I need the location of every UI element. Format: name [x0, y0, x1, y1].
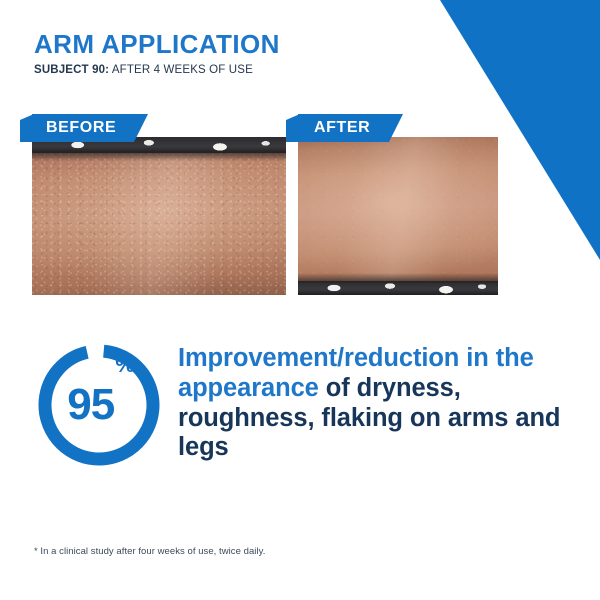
gauge-unit: % [115, 354, 135, 376]
before-ribbon-label: BEFORE [32, 114, 148, 142]
after-ribbon-nib [286, 114, 300, 142]
infographic-page: ARM APPLICATION SUBJECT 90: AFTER 4 WEEK… [0, 0, 600, 600]
after-ribbon-label: AFTER [298, 114, 403, 142]
after-fabric-shadow [298, 273, 498, 283]
before-fabric-shadow [32, 151, 286, 161]
footnote: * In a clinical study after four weeks o… [34, 546, 265, 557]
page-subtitle: SUBJECT 90: AFTER 4 WEEKS OF USE [34, 65, 454, 77]
after-photo-panel [298, 137, 498, 295]
after-fabric-strip [298, 281, 498, 295]
stat-block: 95% Improvement/reduction in the appeara… [34, 340, 566, 470]
percent-gauge: 95% [34, 340, 164, 470]
stat-headline: Improvement/reduction in the appearance … [178, 344, 566, 463]
subject-label: SUBJECT 90: [34, 64, 109, 76]
page-title: ARM APPLICATION [34, 31, 454, 57]
gauge-value: 95 [67, 383, 114, 427]
after-photo-sheen [298, 137, 498, 295]
before-ribbon-nib [20, 114, 34, 142]
header: ARM APPLICATION SUBJECT 90: AFTER 4 WEEK… [34, 31, 454, 77]
gauge-value-group: 95% [34, 340, 164, 470]
before-photo-panel [32, 137, 286, 295]
subject-detail: AFTER 4 WEEKS OF USE [109, 64, 253, 76]
